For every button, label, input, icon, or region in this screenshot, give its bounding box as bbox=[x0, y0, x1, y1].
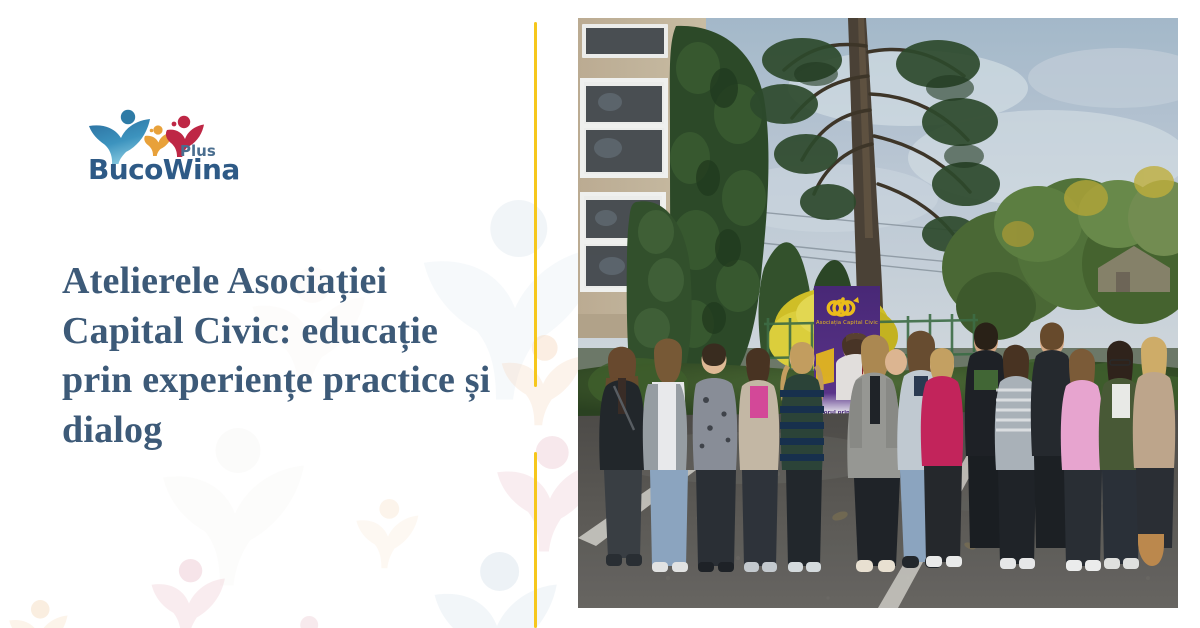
event-photo: Asociația Capital Civic viitorul prin ed… bbox=[578, 18, 1178, 608]
logo-word-wina: Wina bbox=[163, 156, 240, 184]
left-content-panel: BucoWina Plus Atelierele Asociației Capi… bbox=[0, 0, 530, 628]
brand-logo[interactable]: BucoWina Plus bbox=[88, 108, 268, 190]
gold-divider-bottom bbox=[534, 452, 537, 628]
page-title: Atelierele Asociației Capital Civic: edu… bbox=[62, 257, 492, 455]
social-card: BucoWina Plus Atelierele Asociației Capi… bbox=[0, 0, 1200, 628]
gold-divider-top bbox=[534, 22, 537, 387]
logo-wordmark: BucoWina Plus bbox=[88, 156, 268, 190]
logo-word-plus: Plus bbox=[180, 144, 216, 159]
logo-word-buco: Buco bbox=[88, 156, 163, 184]
